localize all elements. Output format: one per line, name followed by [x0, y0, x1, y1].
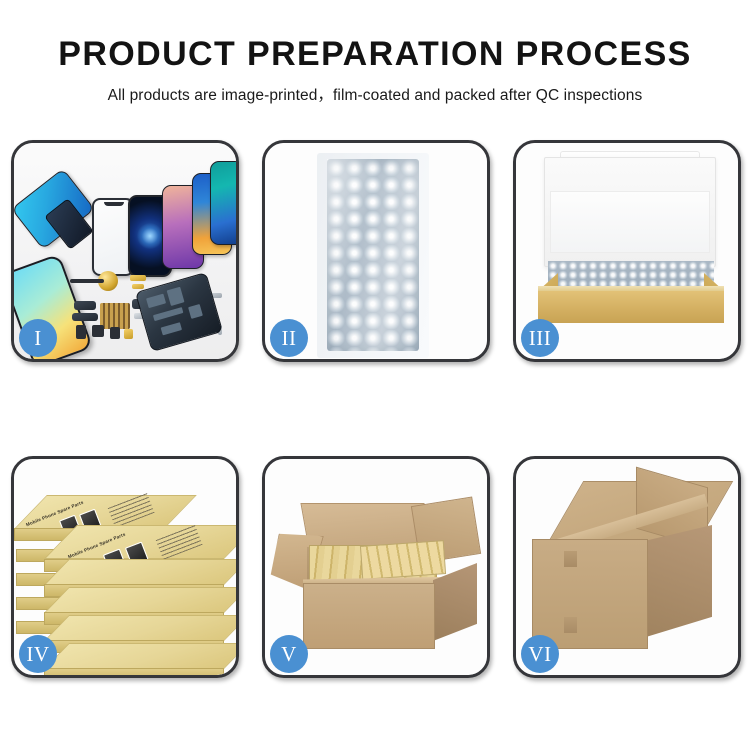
- step-panel-products-and-parts[interactable]: I: [11, 140, 239, 362]
- step-panel-bubble-wrapped[interactable]: II: [262, 140, 490, 362]
- step-image-carton-sealed: VI: [516, 459, 738, 675]
- camera-module-icon: [110, 327, 120, 339]
- step-panel-boxes-stacked[interactable]: Mobile Phone Spare Parts Mobile Phone Sp…: [11, 456, 239, 678]
- sim-tray-icon: [76, 325, 86, 339]
- step-badge-1: I: [19, 319, 57, 357]
- step-image-products-and-parts: I: [14, 143, 236, 359]
- carton-front-face-icon: [532, 539, 648, 649]
- step-panel-carton-sealed[interactable]: VI: [513, 456, 741, 678]
- carton-side-face-icon: [646, 525, 712, 637]
- carton-side-icon: [433, 563, 477, 641]
- step-badge-2: II: [270, 319, 308, 357]
- gold-connector-icon: [130, 275, 146, 281]
- earpiece-mesh-icon: [70, 279, 104, 283]
- stacked-box: [44, 643, 236, 675]
- step-badge-3: III: [521, 319, 559, 357]
- chip-array-icon: [100, 303, 130, 329]
- step-image-boxes-stacked: Mobile Phone Spare Parts Mobile Phone Sp…: [14, 459, 236, 675]
- steps-grid: I II: [11, 140, 741, 678]
- step-image-carton-filled: V: [265, 459, 487, 675]
- flex-cable-icon: [74, 301, 96, 310]
- gold-bracket-icon: [132, 284, 144, 289]
- step-panel-carton-filled[interactable]: V: [262, 456, 490, 678]
- product-preparation-infographic: PRODUCT PREPARATION PROCESS All products…: [0, 0, 750, 750]
- bag-sheen: [327, 159, 419, 351]
- carton-seam-top-icon: [564, 551, 577, 567]
- header: PRODUCT PREPARATION PROCESS All products…: [0, 34, 750, 105]
- steps-row-1: I II: [11, 140, 741, 362]
- speaker-icon: [92, 325, 104, 337]
- carton-front-icon: [303, 583, 435, 649]
- page-title: PRODUCT PREPARATION PROCESS: [0, 34, 750, 74]
- foam-sheet-icon: [550, 191, 710, 253]
- step-badge-4: IV: [19, 635, 57, 673]
- step-badge-6: VI: [521, 635, 559, 673]
- flex-cable-2-icon: [72, 313, 98, 321]
- step-badge-5: V: [270, 635, 308, 673]
- gold-chip-icon: [124, 329, 133, 339]
- phone-screen-teal-icon: [210, 161, 236, 245]
- steps-row-2: Mobile Phone Spare Parts Mobile Phone Sp…: [11, 456, 741, 678]
- step-panel-inner-box-packed[interactable]: III: [513, 140, 741, 362]
- step-image-inner-box-packed: III: [516, 143, 738, 359]
- page-subtitle: All products are image-printed，film-coat…: [0, 83, 750, 105]
- box-front-icon: [538, 291, 724, 323]
- packed-boxes-top-icon: [360, 540, 446, 580]
- step-image-bubble-wrapped: II: [265, 143, 487, 359]
- carton-seam-bottom-icon: [564, 617, 577, 633]
